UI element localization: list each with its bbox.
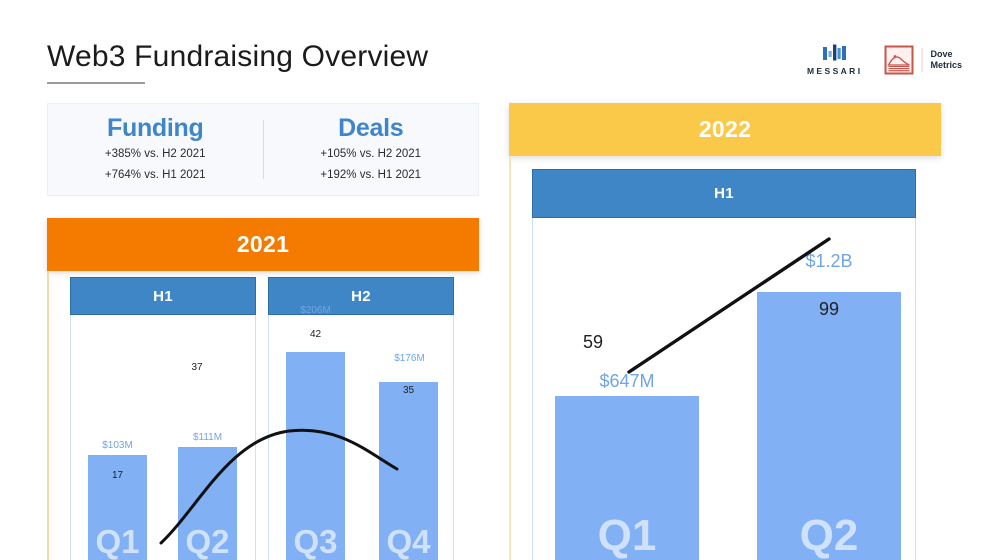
count-label-2021-q4: 35 <box>379 385 438 396</box>
year-header-2022: 2022 <box>509 103 941 156</box>
count-label-2021-q3: 42 <box>286 329 345 340</box>
dove-wordmark-line2: Metrics <box>930 60 962 71</box>
amount-label-2021-q1: $103M <box>88 440 147 451</box>
count-label-2022-q1: 59 <box>563 332 623 353</box>
stat-column-funding: Funding +385% vs. H2 2021 +764% vs. H1 2… <box>48 104 263 195</box>
year-body-2021: H1 Q1 $103M 17 Q2 $111M 37 <box>47 271 479 560</box>
stat-column-deals: Deals +105% vs. H2 2021 +192% vs. H1 202… <box>264 104 479 195</box>
amount-label-2022-q1: $647M <box>545 371 709 392</box>
stat-deals-line-1: +105% vs. H2 2021 <box>320 146 421 164</box>
count-label-2022-q2: 99 <box>791 299 867 320</box>
amount-label-2021-q2: $111M <box>178 432 237 443</box>
count-label-2021-q2: 37 <box>174 362 220 373</box>
slide-root: Web3 Fundraising Overview MESSARI <box>0 0 1000 560</box>
stat-funding-line-2: +764% vs. H1 2021 <box>105 167 206 185</box>
half-panel-2021-h2: H2 Q3 $206M 42 Q4 $176M 35 <box>268 277 454 560</box>
bar-2021-q3[interactable]: Q3 <box>286 352 345 560</box>
bar-label-q2-2022: Q2 <box>800 514 859 560</box>
stat-heading-deals: Deals <box>338 114 403 143</box>
half-panel-2021-h1: H1 Q1 $103M 17 Q2 $111M 37 <box>70 277 256 560</box>
bar-label-q4-2021: Q4 <box>386 525 430 560</box>
year-header-2021: 2021 <box>47 218 479 271</box>
dove-logo-divider <box>921 48 923 72</box>
half-header-h1-2021: H1 <box>70 277 256 315</box>
logo-group: MESSARI Dove Metrics <box>807 44 962 76</box>
summary-stats-card: Funding +385% vs. H2 2021 +764% vs. H1 2… <box>47 103 479 196</box>
messari-wordmark: MESSARI <box>807 66 863 76</box>
bar-2021-q4[interactable]: Q4 <box>379 382 438 560</box>
dove-metrics-logo: Dove Metrics <box>884 45 962 75</box>
amount-label-2021-q4: $176M <box>373 353 446 364</box>
plot-area-2021-h1: Q1 $103M 17 Q2 $111M 37 <box>71 315 255 560</box>
messari-mark-icon <box>822 44 848 62</box>
bar-label-q1-2021: Q1 <box>95 525 139 560</box>
stat-deals-line-2: +192% vs. H1 2021 <box>320 167 421 185</box>
plot-area-2021-h2: Q3 $206M 42 Q4 $176M 35 <box>269 315 453 560</box>
year-body-2022: H1 Q1 $647M 59 Q2 $1.2B 99 <box>509 156 941 560</box>
dove-wordmark: Dove Metrics <box>930 49 962 71</box>
count-label-2021-q1: 17 <box>88 470 147 481</box>
stat-funding-line-1: +385% vs. H2 2021 <box>105 146 206 164</box>
dove-wordmark-line1: Dove <box>930 49 962 60</box>
bar-2022-q1[interactable]: Q1 <box>555 396 699 560</box>
dove-mountain-icon <box>884 45 914 75</box>
bar-label-q2-2021: Q2 <box>185 525 229 560</box>
bar-2021-q2[interactable]: Q2 <box>178 447 237 560</box>
amount-label-2021-q3: $206M <box>279 305 352 316</box>
half-header-h1-2022: H1 <box>532 169 916 218</box>
title-underline <box>47 82 145 84</box>
plot-area-2022-h1: Q1 $647M 59 Q2 $1.2B 99 <box>533 218 915 560</box>
amount-label-2022-q2: $1.2B <box>771 251 887 272</box>
year-panel-2021: 2021 H1 Q1 $103M 17 Q2 $111M 37 <box>47 218 479 560</box>
year-panel-2022: 2022 H1 Q1 $647M 59 Q2 $1.2B 99 <box>509 103 941 560</box>
stat-heading-funding: Funding <box>107 114 203 143</box>
bar-2022-q2[interactable]: Q2 <box>757 292 901 560</box>
bar-label-q1-2022: Q1 <box>598 514 657 560</box>
messari-logo: MESSARI <box>807 44 863 76</box>
bar-label-q3-2021: Q3 <box>293 525 337 560</box>
half-panel-2022-h1: H1 Q1 $647M 59 Q2 $1.2B 99 <box>532 169 916 560</box>
page-title: Web3 Fundraising Overview <box>47 40 428 74</box>
